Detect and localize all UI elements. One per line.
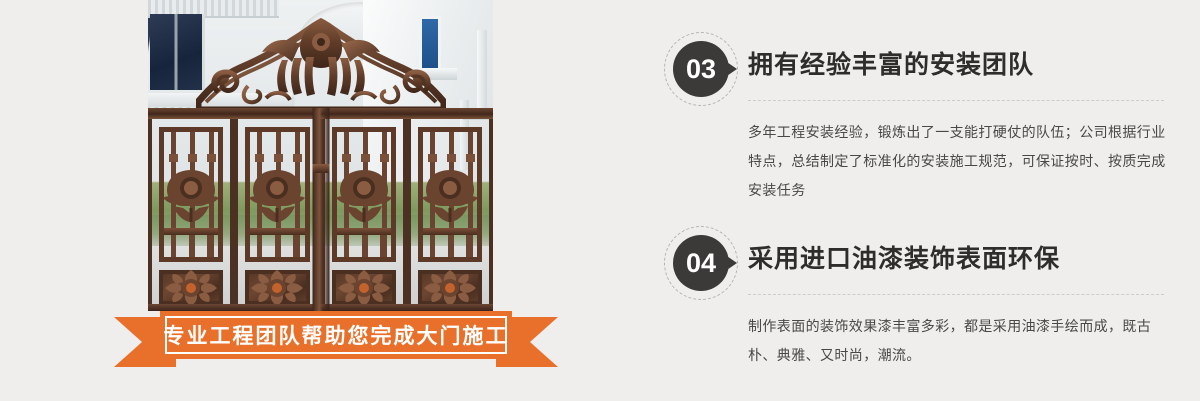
ribbon-banner: 专业工程团队帮助您完成大门施工 bbox=[114, 311, 558, 367]
promo-banner-page: 专业工程团队帮助您完成大门施工 03 拥有经验丰富的安装团队 多年工程安装经验，… bbox=[0, 0, 1200, 401]
ribbon-caption: 专业工程团队帮助您完成大门施工 bbox=[114, 311, 558, 359]
gate-panel bbox=[234, 119, 320, 311]
gate-panel bbox=[148, 119, 234, 311]
gate-panel-grille bbox=[245, 127, 309, 262]
bronze-gate bbox=[148, 0, 493, 311]
feature-heading: 采用进口油漆装饰表面环保 bbox=[748, 239, 1060, 275]
badge-disc: 03 bbox=[673, 41, 729, 97]
gate-center-post bbox=[312, 108, 329, 311]
gate-mid-rail bbox=[337, 228, 391, 235]
gate-photo-block bbox=[148, 0, 493, 311]
gate-lower-pickets bbox=[423, 235, 477, 261]
gate-solid-panel bbox=[159, 270, 223, 305]
gate-rosette-ornament bbox=[163, 268, 219, 308]
gate-lower-pickets bbox=[164, 235, 218, 261]
feature-divider bbox=[748, 100, 1164, 101]
feature-number-badge: 03 bbox=[664, 32, 738, 106]
gate-medallion-ornament bbox=[332, 168, 396, 224]
feature-body-text: 制作表面的装饰效果漆丰富多彩，都是采用油漆手绘而成，既古朴、典雅、又时尚，潮流。 bbox=[748, 312, 1168, 370]
gate-rosette-ornament bbox=[249, 268, 305, 308]
gate-mid-rail bbox=[423, 228, 477, 235]
badge-number: 03 bbox=[686, 56, 716, 83]
gate-baluster-caps bbox=[423, 154, 477, 162]
gate-panel-grille bbox=[418, 127, 482, 262]
gate-baluster-caps bbox=[337, 154, 391, 162]
gate-crest-ornament bbox=[196, 14, 446, 110]
gate-medallion-ornament bbox=[245, 168, 309, 224]
feature-list: 03 拥有经验丰富的安装团队 多年工程安装经验，锻炼出了一支能打硬仗的队伍；公司… bbox=[664, 0, 1184, 401]
feature-body-text: 多年工程安装经验，锻炼出了一支能打硬仗的队伍；公司根据行业特点，总结制定了标准化… bbox=[748, 118, 1168, 205]
gate-panel bbox=[321, 119, 407, 311]
badge-disc: 04 bbox=[673, 235, 729, 291]
feature-divider bbox=[748, 294, 1164, 295]
gate-solid-panel bbox=[418, 270, 482, 305]
gate-medallion-ornament bbox=[418, 168, 482, 224]
gate-lower-pickets bbox=[250, 235, 304, 261]
feature-heading: 拥有经验丰富的安装团队 bbox=[748, 45, 1034, 81]
gate-solid-panel bbox=[332, 270, 396, 305]
gate-mid-rail bbox=[164, 228, 218, 235]
gate-photo bbox=[148, 0, 493, 311]
gate-solid-panel bbox=[245, 270, 309, 305]
gate-baluster-caps bbox=[164, 154, 218, 162]
gate-medallion-ornament bbox=[159, 168, 223, 224]
feature-number-badge: 04 bbox=[664, 226, 738, 300]
gate-mid-rail bbox=[250, 228, 304, 235]
gate-baluster-caps bbox=[250, 154, 304, 162]
gate-panel bbox=[407, 119, 493, 311]
gate-lower-pickets bbox=[337, 235, 391, 261]
gate-rosette-ornament bbox=[336, 268, 392, 308]
gate-panel-grille bbox=[332, 127, 396, 262]
gate-panel-grille bbox=[159, 127, 223, 262]
gate-rosette-ornament bbox=[422, 268, 478, 308]
badge-number: 04 bbox=[686, 250, 716, 277]
